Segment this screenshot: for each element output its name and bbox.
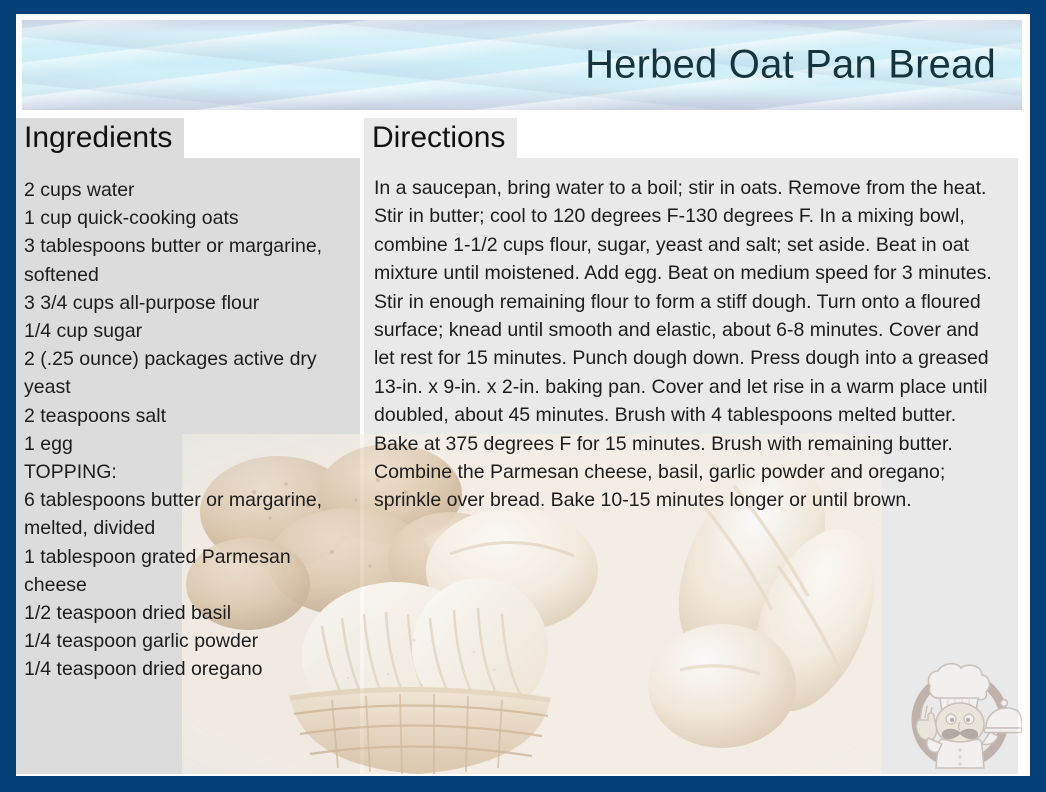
ingredients-panel: Ingredients 2 cups water1 cup quick-cook… (16, 118, 360, 158)
directions-heading: Directions (364, 118, 517, 158)
ingredient-item: 1 cup quick-cooking oats (24, 204, 354, 232)
ingredient-item: 1/2 teaspoon dried basil (24, 599, 354, 627)
title-banner: Herbed Oat Pan Bread (22, 20, 1022, 110)
content-panels: Ingredients 2 cups water1 cup quick-cook… (16, 118, 1030, 774)
directions-panel: Directions In a saucepan, bring water to… (364, 118, 1018, 158)
ingredient-item: 2 cups water (24, 176, 354, 204)
ingredient-item: TOPPING: (24, 458, 354, 486)
ingredients-heading: Ingredients (16, 118, 184, 158)
page-title: Herbed Oat Pan Bread (585, 43, 996, 88)
ingredient-item: 1/4 teaspoon dried oregano (24, 655, 354, 683)
ingredient-item: 2 (.25 ounce) packages active dry yeast (24, 345, 354, 401)
ingredient-item: 3 3/4 cups all-purpose flour (24, 289, 354, 317)
card-inner: Herbed Oat Pan Bread Ingredients 2 cups … (16, 14, 1030, 776)
ingredient-item: 6 tablespoons butter or margarine, melte… (24, 486, 354, 542)
ingredient-item: 1/4 cup sugar (24, 317, 354, 345)
directions-body-text: In a saucepan, bring water to a boil; st… (374, 174, 1002, 515)
ingredients-list: 2 cups water1 cup quick-cooking oats3 ta… (24, 176, 354, 684)
ingredient-item: 2 teaspoons salt (24, 402, 354, 430)
ingredient-item: 1 egg (24, 430, 354, 458)
recipe-card: Herbed Oat Pan Bread Ingredients 2 cups … (0, 0, 1046, 792)
ingredient-item: 3 tablespoons butter or margarine, softe… (24, 232, 354, 288)
ingredient-item: 1 tablespoon grated Parmesan cheese (24, 543, 354, 599)
ingredient-item: 1/4 teaspoon garlic powder (24, 627, 354, 655)
